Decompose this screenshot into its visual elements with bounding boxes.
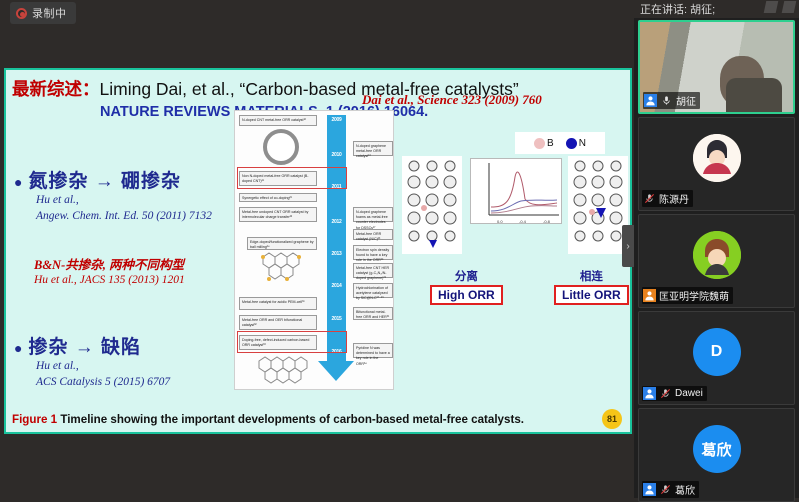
participant-tile-huzheng[interactable]: 胡征: [638, 20, 795, 114]
mic-icon: [660, 94, 673, 107]
shared-screen-stage: 最新综述：Liming Dai, et al., “Carbon-based m…: [0, 0, 634, 435]
slide-page-number: 81: [602, 409, 622, 429]
timeline-year: 2009: [327, 117, 346, 123]
red-note: B&N-共掺杂, 两种不同构型 Hu et al., JACS 135 (201…: [34, 254, 232, 286]
panel-collapse-toggle[interactable]: ›: [622, 225, 634, 267]
avatar-illustration: [693, 134, 741, 182]
timeline-year: 2013: [327, 251, 346, 257]
orr-cn-left: 分离: [430, 268, 503, 284]
orr-cn-right: 相连: [554, 268, 629, 284]
participant-name: 陈源丹: [659, 191, 689, 206]
bullet-item-1: ●氮掺杂 → 硼掺杂 Hu et al., Angew. Chem. Int. …: [14, 166, 232, 224]
timeline-year: 2015: [327, 316, 346, 322]
graphene-defect-illustration: [253, 355, 315, 387]
slide-bullet-list: ●氮掺杂 → 硼掺杂 Hu et al., Angew. Chem. Int. …: [14, 166, 232, 390]
legend-item-n: N: [566, 138, 586, 149]
avatar-initial: 葛欣: [693, 425, 741, 473]
bullet-item-2: ●掺杂 → 缺陷 Hu et al., ACS Catalysis 5 (201…: [14, 332, 232, 390]
user-icon-orange: [643, 289, 656, 302]
orr-box-right: Little ORR: [554, 285, 629, 305]
timeline-entry: N-doped graphene metal-free ORR catalyst…: [353, 141, 393, 156]
user-glyph: [644, 388, 655, 399]
participant-name: Dawei: [675, 388, 703, 399]
user-glyph: [645, 95, 656, 106]
timeline-year: 2010: [327, 152, 346, 158]
legend-label-b: B: [547, 138, 554, 149]
user-icon-blue: [644, 94, 657, 107]
timeline-entry: Metal-free CNT HER catalyst (g-C₃N₄/N-do…: [353, 263, 393, 278]
timeline-highlight-box: [237, 331, 347, 353]
avatar-illustration: [693, 231, 741, 279]
recording-label: 录制中: [32, 5, 67, 21]
participant-name: 胡征: [676, 93, 696, 108]
timeline-entry: Metal-free catalyst for acidic PEM-cell³…: [239, 297, 317, 310]
timeline-entry: Hydrochlorination of acetylene catalysed…: [353, 283, 393, 298]
bullet-heading: ●氮掺杂 → 硼掺杂: [14, 166, 232, 193]
figure-reference: Dai et al., Science 323 (2009) 760: [362, 92, 542, 108]
bullet-citation-1: Hu et al., Angew. Chem. Int. Ed. 50 (201…: [36, 193, 232, 224]
participant-nameplate: Dawei: [642, 386, 707, 401]
mic-muted-icon: [659, 387, 672, 400]
red-note-line1: B&N-共掺杂, 两种不同构型: [34, 254, 232, 273]
timeline-figure: 2009 2010 2011 2012 2013 2014 2015 2016 …: [234, 110, 394, 390]
cv-plot-svg: 0.0 -0.4 -0.8: [471, 159, 563, 225]
cnt-structure-right: [568, 156, 628, 254]
recording-indicator: 录制中: [10, 2, 76, 24]
mic-muted-glyph: [644, 193, 655, 204]
n-atom-icon: [566, 138, 577, 149]
figure-caption-text: Timeline showing the important developme…: [60, 413, 524, 426]
timeline-year: 2014: [327, 283, 346, 289]
cnt-structure-left-svg: [402, 156, 462, 254]
red-note-line2: Hu et al., JACS 135 (2013) 1201: [34, 274, 232, 286]
slide-figure: Dai et al., Science 323 (2009) 760 2009 …: [234, 92, 628, 408]
cv-xtick-2: -0.8: [543, 219, 551, 224]
bullet-citation-2: Hu et al., ACS Catalysis 5 (2015) 6707: [36, 359, 232, 390]
timeline-entry: Bifunctional metal-free ORR and HER³¹: [353, 307, 393, 320]
legend-label-n: N: [579, 138, 586, 149]
mic-muted-glyph: [660, 484, 671, 495]
bn-legend: B N: [515, 132, 605, 154]
avatar-initial: D: [693, 328, 741, 376]
presentation-slide: 最新综述：Liming Dai, et al., “Carbon-based m…: [4, 68, 632, 434]
orr-label-left: 分离 High ORR: [430, 268, 503, 305]
avatar: [693, 231, 741, 279]
bullet-dot-icon: ●: [14, 174, 23, 190]
cv-plot: 0.0 -0.4 -0.8: [470, 158, 562, 224]
cv-xtick-0: 0.0: [497, 219, 503, 224]
timeline-entry: N-doped CNT metal-free ORR catalyst¹²: [239, 115, 317, 126]
cnt-structure-left: [402, 156, 462, 254]
participant-nameplate: 胡征: [643, 92, 700, 109]
timeline-entry: Pyridine N was determined to have a key …: [353, 343, 393, 358]
b-atom-icon: [534, 138, 545, 149]
participant-tile-chenyuandan[interactable]: 陈源丹: [638, 117, 795, 211]
graphene-defect-svg: [253, 355, 315, 387]
participant-nameplate: 葛欣: [642, 481, 699, 498]
participant-name: 匡亚明学院魏萌: [659, 288, 729, 303]
mic-muted-glyph: [660, 388, 671, 399]
participant-tile-weimeng[interactable]: 匡亚明学院魏萌: [638, 214, 795, 308]
figure-caption-number: Figure 1: [12, 413, 57, 426]
timeline-entry: Metal-free ORR and OER bifunctional cata…: [239, 315, 317, 330]
timeline-year: 2012: [327, 219, 346, 225]
graphene-illustration: [255, 251, 313, 285]
timeline-entry: Synergetic effect of co-doping²¹: [239, 193, 317, 202]
timeline-highlight-box: [237, 167, 347, 189]
participant-nameplate: 陈源丹: [642, 190, 693, 207]
mic-muted-icon: [659, 483, 672, 496]
user-icon-blue: [643, 387, 656, 400]
orr-label-right: 相连 Little ORR: [554, 268, 629, 305]
minimize-icon[interactable]: [764, 1, 779, 13]
cnt-ring-illustration: [263, 129, 299, 165]
maximize-icon[interactable]: [782, 1, 797, 13]
slide-title-cn: 最新综述：: [12, 79, 100, 99]
participants-panel: 正在讲话: 胡征; ›: [634, 0, 799, 498]
participant-name: 葛欣: [675, 482, 695, 497]
bullet-dot-icon-2: ●: [14, 340, 23, 356]
timeline-entry: N-doped graphene foams as metal-free cou…: [353, 207, 393, 222]
participant-nameplate: 匡亚明学院魏萌: [642, 287, 733, 304]
participant-tile-gexin[interactable]: 葛欣 葛欣: [638, 408, 795, 502]
mic-glyph: [661, 95, 672, 106]
user-glyph: [644, 484, 655, 495]
timeline-entry: Electron spin density found to have a ke…: [353, 245, 393, 260]
cnt-structure-right-svg: [568, 156, 628, 254]
participant-tile-dawei[interactable]: D Dawei: [638, 311, 795, 405]
timeline-entry: Metal-free undoped CNT ORR catalyst by i…: [239, 207, 317, 222]
window-controls[interactable]: [765, 1, 795, 13]
graphene-svg: [255, 251, 313, 285]
user-glyph: [644, 290, 655, 301]
cv-xtick-1: -0.4: [519, 219, 527, 224]
timeline-entry: Edge-doped/functionalized graphene by ba…: [247, 237, 317, 250]
participant-tiles: 胡征 陈源丹: [634, 18, 799, 498]
figure-caption: Figure 1 Timeline showing the important …: [12, 413, 624, 426]
timeline-entry: Metal-free ORR catalyst (N/C)²³: [353, 229, 393, 240]
avatar: [693, 134, 741, 182]
record-icon: [16, 8, 27, 19]
orr-box-left: High ORR: [430, 285, 503, 305]
mic-muted-icon: [643, 192, 656, 205]
user-icon-blue: [643, 483, 656, 496]
legend-item-b: B: [534, 138, 554, 149]
bullet-heading-2: ●掺杂 → 缺陷: [14, 332, 232, 359]
